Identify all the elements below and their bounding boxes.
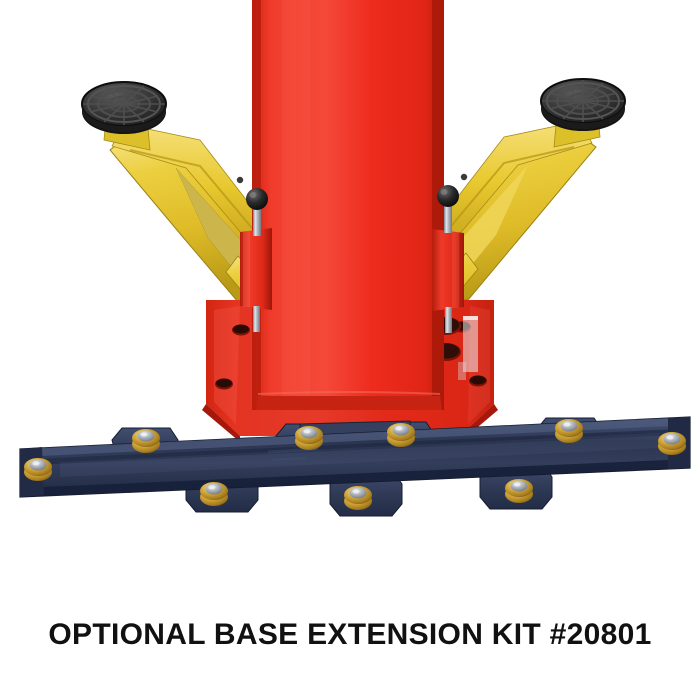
anchor-hole-inner [470, 376, 486, 385]
base-extension-bolt [658, 432, 686, 455]
restraint-right-cylinder-highlight [452, 232, 459, 308]
restraint-left-knob [246, 188, 268, 210]
lift-illustration [0, 0, 700, 610]
base-extension-bolt [295, 426, 323, 450]
base-extension-bolt [505, 479, 533, 503]
anchor-hole-inner [233, 325, 249, 334]
restraint-left-lower-rod [253, 306, 260, 332]
base-extension-bolt [24, 458, 52, 481]
red-lift-column [252, 0, 444, 410]
safety-bracket-lower [458, 362, 466, 380]
arm-left-pivot-bolt [237, 177, 243, 183]
restraint-right-cylinder [432, 229, 464, 311]
base-extension-bolt [200, 482, 228, 506]
base-extension-bolt [387, 423, 415, 447]
column-highlight [282, 0, 310, 410]
restraint-left-rod [253, 206, 261, 236]
base-extension-bolt [344, 486, 372, 510]
restraint-right-knob [437, 185, 459, 207]
restraint-right-rod [444, 203, 452, 233]
column-body [252, 0, 444, 410]
base-extension-bolt [555, 419, 583, 443]
arm-right-pivot-bolt [461, 174, 467, 180]
safety-bracket-edge [463, 316, 478, 320]
restraint-left-knob-glint [250, 192, 257, 198]
restraint-left-cylinder-highlight [243, 231, 250, 307]
lift-pad-right [541, 79, 625, 131]
restraint-right-lower-rod [445, 307, 452, 333]
screenshot-root: OPTIONAL BASE EXTENSION KIT #20801 [0, 0, 700, 700]
anchor-hole-inner [216, 379, 232, 388]
base-extension-bolt [132, 429, 160, 453]
product-photo [0, 0, 700, 610]
column-weld-bead [256, 396, 442, 410]
lift-pad-left [82, 82, 166, 134]
caption-text: OPTIONAL BASE EXTENSION KIT #20801 [0, 618, 700, 652]
restraint-right-knob-glint [441, 189, 448, 195]
